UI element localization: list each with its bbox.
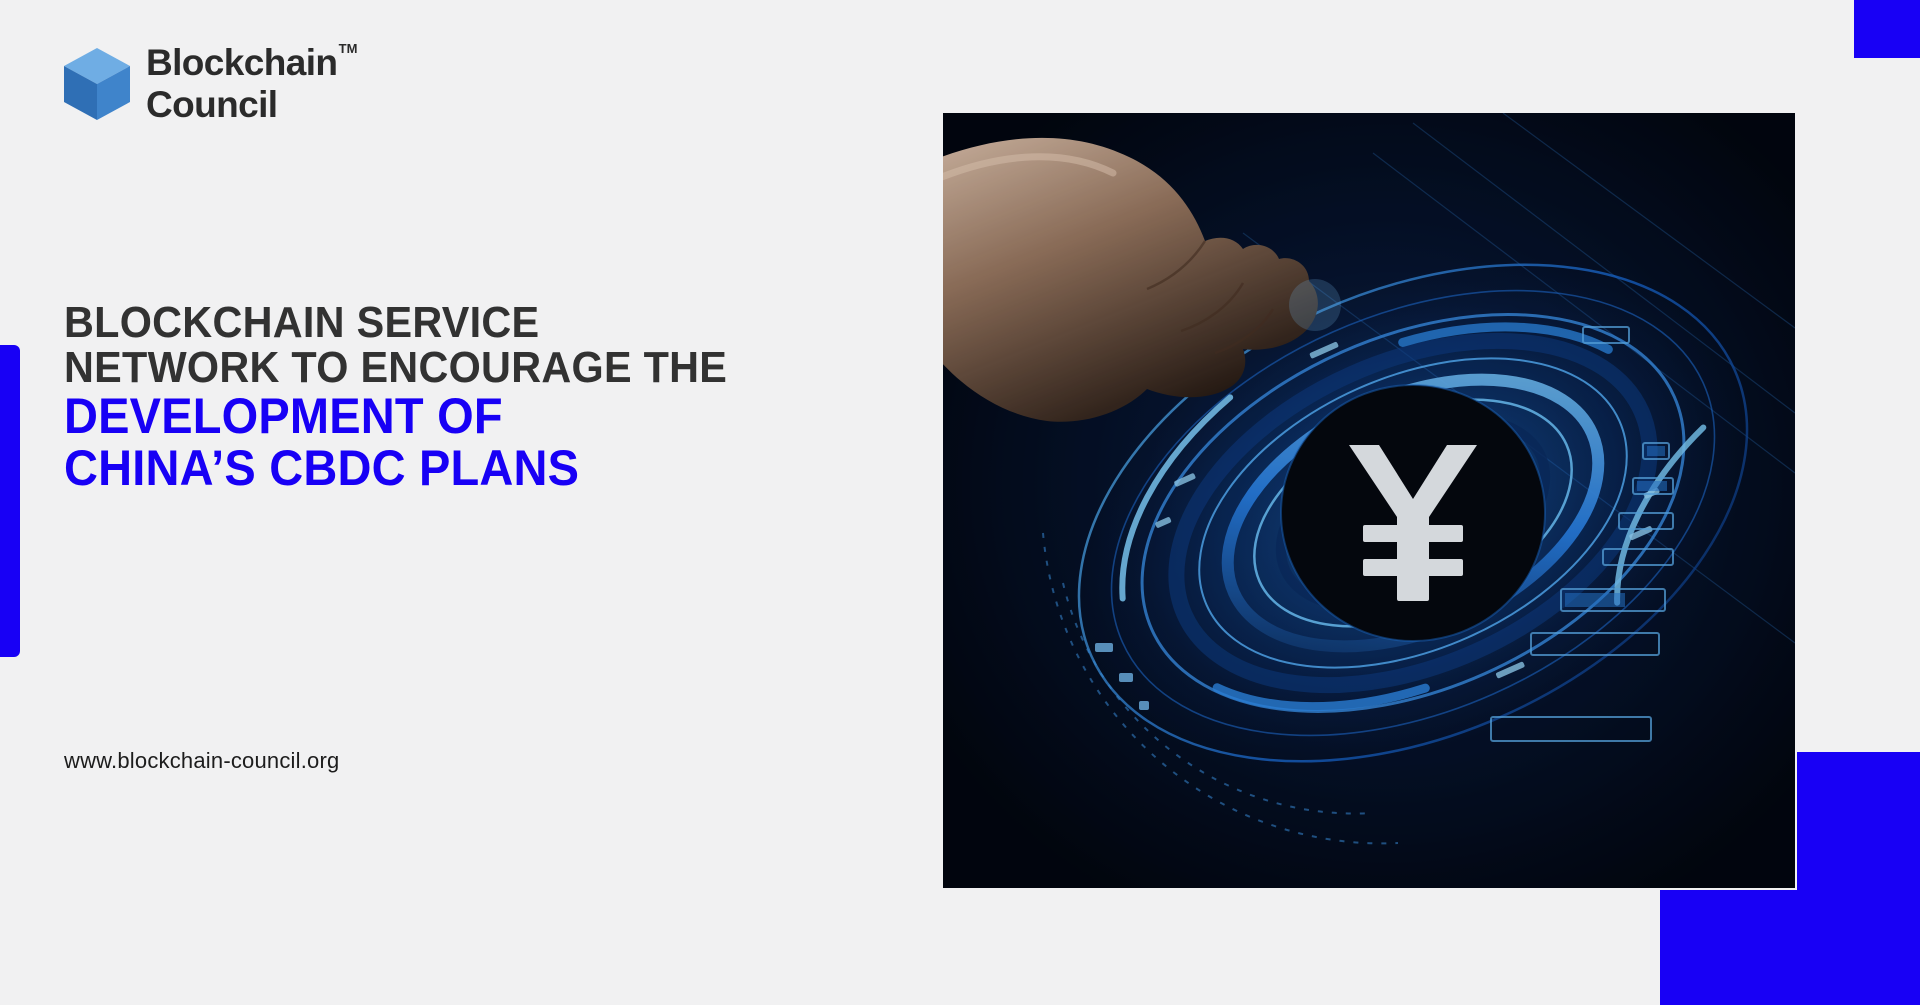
hero-image: [943, 113, 1795, 888]
headline-line-1: BLOCKCHAIN SERVICE: [64, 300, 722, 345]
decoration-bottom-right-square-small: [1797, 752, 1920, 898]
website-url: www.blockchain-council.org: [64, 748, 339, 774]
banner-graphic: Blockchain Council TM BLOCKCHAIN SERVICE…: [0, 0, 1920, 1005]
brand-name-line-1: Blockchain: [146, 44, 337, 81]
decoration-bottom-right-square-large: [1660, 890, 1920, 1005]
brand-logo: Blockchain Council TM: [62, 44, 337, 123]
decoration-top-right-square: [1854, 0, 1920, 58]
headline-line-4: CHINA’S CBDC PLANS: [64, 442, 722, 494]
blockchain-cube-icon: [62, 46, 132, 122]
headline-line-2: NETWORK TO ENCOURAGE THE: [64, 345, 722, 390]
brand-wordmark: Blockchain Council TM: [146, 44, 337, 123]
trademark-symbol: TM: [339, 42, 358, 55]
decoration-left-accent-bar: [0, 345, 20, 657]
brand-name-line-2: Council: [146, 86, 337, 123]
headline-line-3: DEVELOPMENT OF: [64, 390, 722, 442]
page-title: BLOCKCHAIN SERVICE NETWORK TO ENCOURAGE …: [64, 300, 764, 494]
